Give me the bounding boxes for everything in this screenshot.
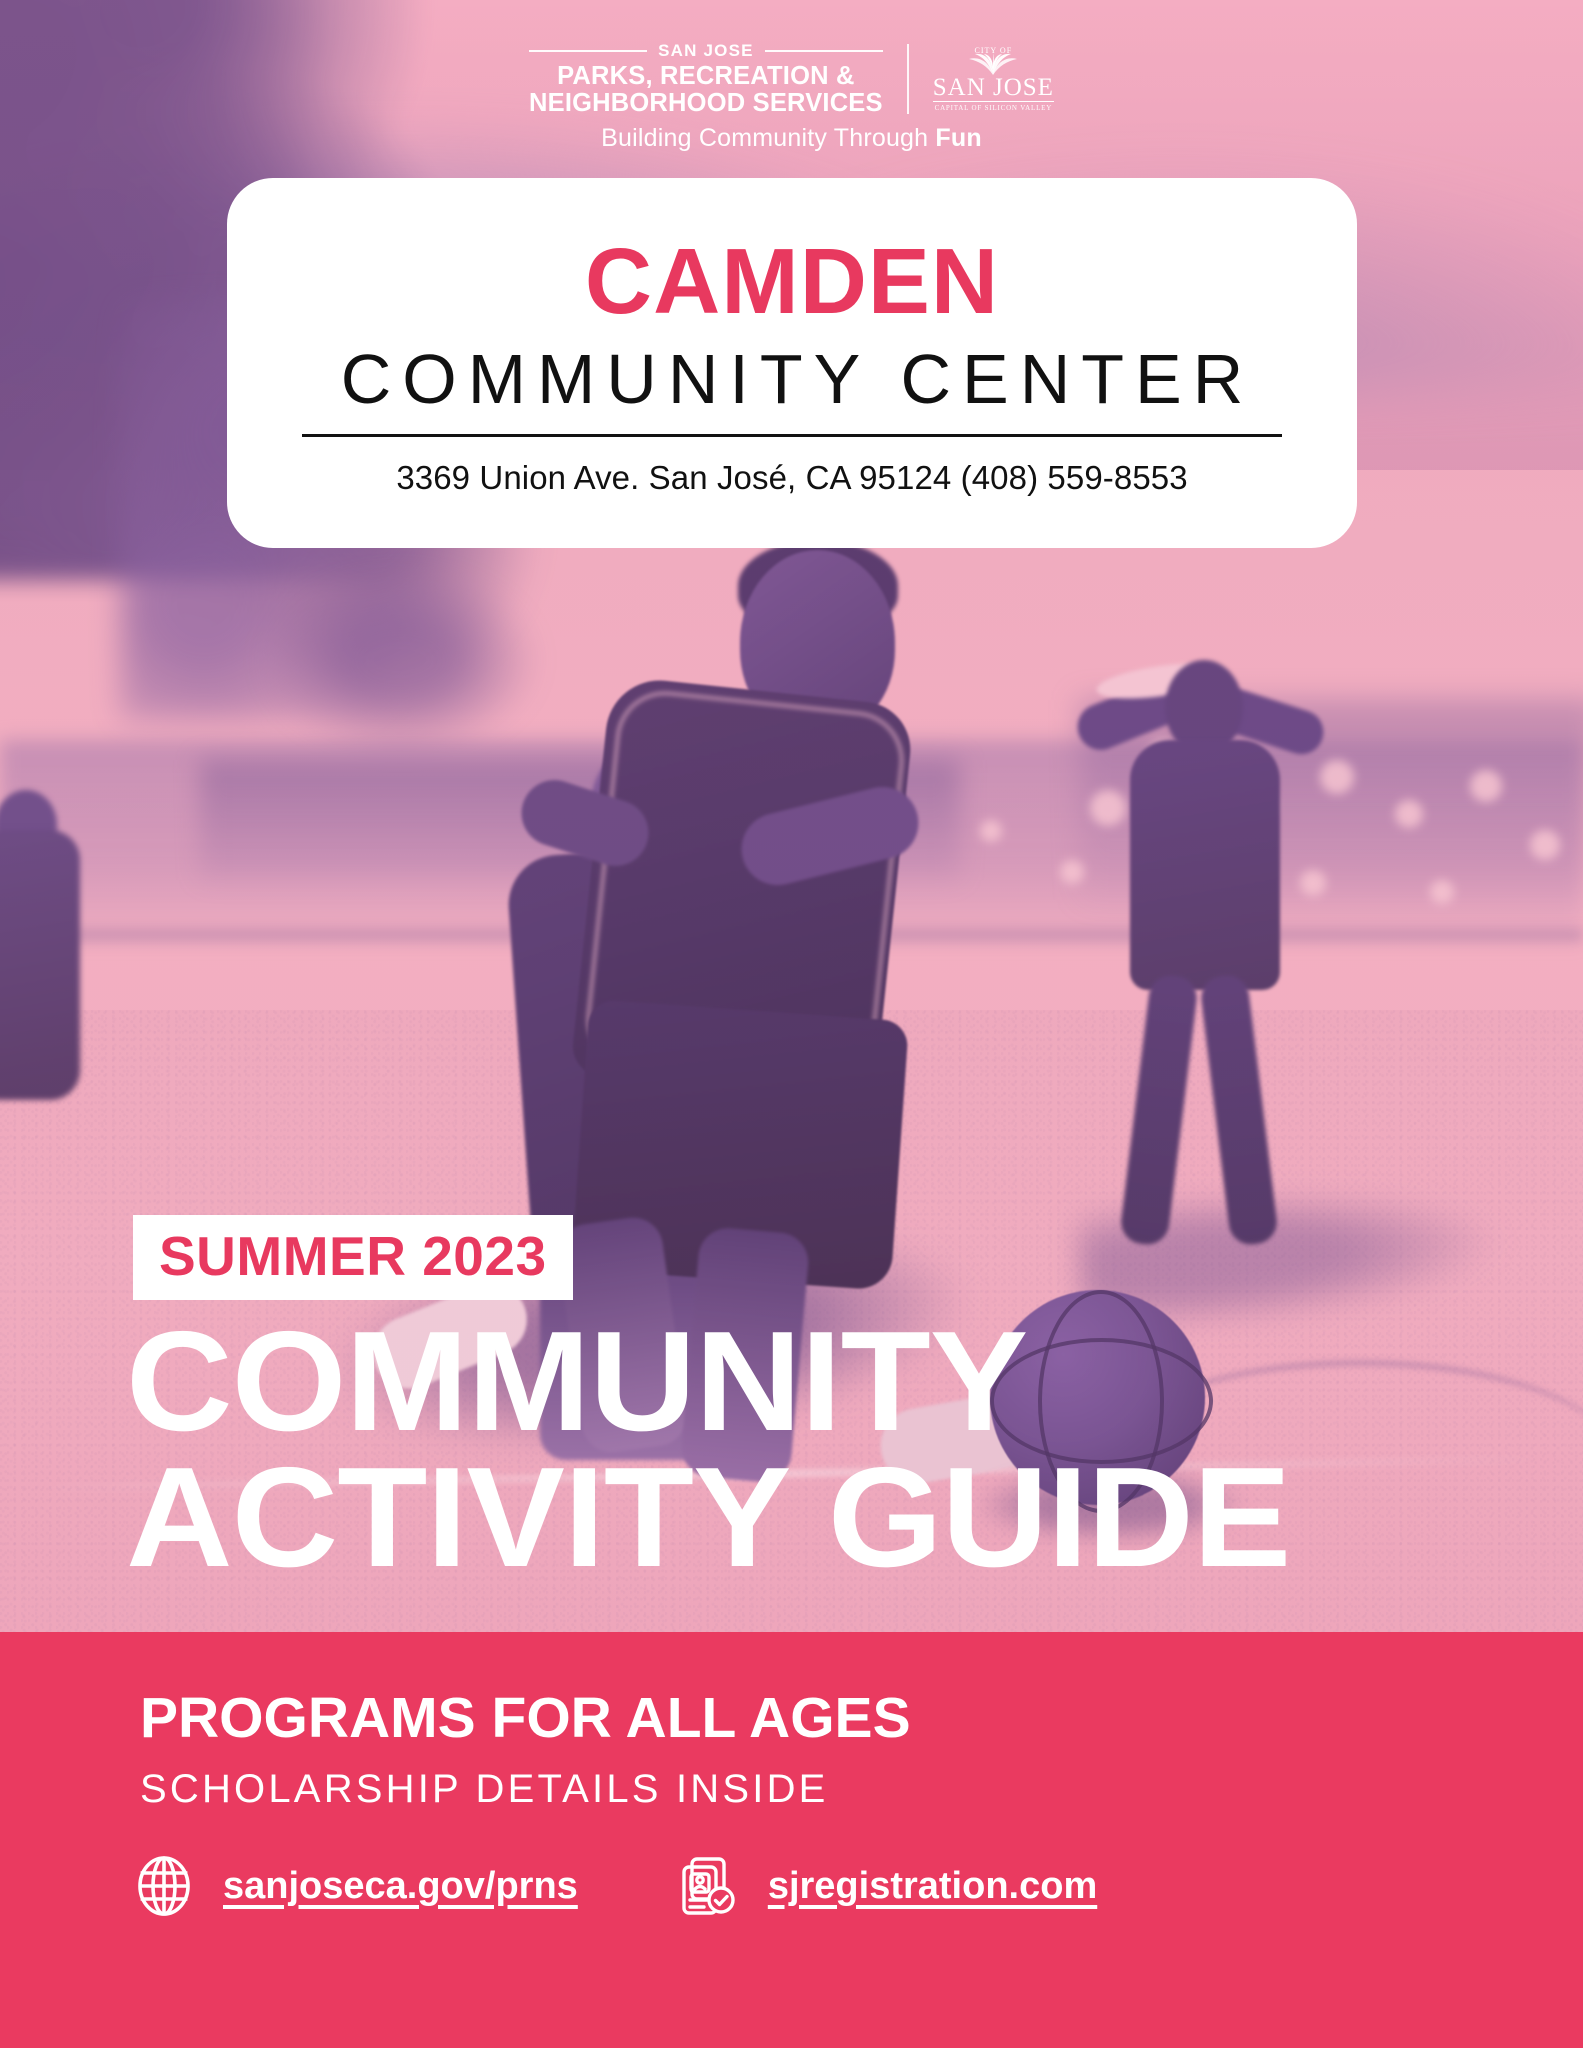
hero-line-2: ACTIVITY GUIDE [126, 1454, 1290, 1582]
registration-link[interactable]: sjregistration.com [678, 1855, 1097, 1917]
logo-line-1: PARKS, RECREATION & [557, 63, 855, 90]
tagline-bold: Fun [935, 124, 981, 152]
footer-links: sanjoseca.gov/prns sjregistration.com [133, 1855, 1097, 1917]
band-subhead: SCHOLARSHIP DETAILS INSIDE [140, 1769, 911, 1809]
logo-rule-left [529, 50, 647, 52]
card-divider [302, 434, 1282, 437]
seal-capital: CAPITAL OF SILICON VALLEY [935, 105, 1053, 112]
center-info-card: CAMDEN COMMUNITY CENTER 3369 Union Ave. … [227, 178, 1357, 548]
hero-line-1: COMMUNITY [126, 1318, 1290, 1446]
prns-wordmark: SAN JOSE PARKS, RECREATION & NEIGHBORHOO… [529, 42, 883, 116]
logo-eyebrow: SAN JOSE [658, 42, 754, 59]
center-name: CAMDEN [585, 235, 999, 328]
hero-title: COMMUNITY ACTIVITY GUIDE [126, 1318, 1246, 1582]
registration-card-icon [678, 1855, 740, 1917]
website-link[interactable]: sanjoseca.gov/prns [133, 1855, 578, 1917]
logo-tagline: Building Community Through Fun [529, 124, 1054, 153]
registration-link-label: sjregistration.com [768, 1865, 1097, 1908]
prns-logo: SAN JOSE PARKS, RECREATION & NEIGHBORHOO… [0, 42, 1583, 153]
band-headline: PROGRAMS FOR ALL AGES [140, 1690, 911, 1747]
band-text: PROGRAMS FOR ALL AGES SCHOLARSHIP DETAIL… [140, 1690, 911, 1809]
center-address: 3369 Union Ave. San José, CA 95124 (408)… [396, 459, 1187, 497]
activity-guide-cover: SAN JOSE PARKS, RECREATION & NEIGHBORHOO… [0, 0, 1583, 2048]
season-badge-label: SUMMER 2023 [159, 1229, 547, 1284]
website-link-label: sanjoseca.gov/prns [223, 1865, 578, 1908]
logo-line-2: NEIGHBORHOOD SERVICES [529, 90, 883, 117]
logo-divider [907, 44, 909, 114]
globe-icon [133, 1855, 195, 1917]
season-badge: SUMMER 2023 [133, 1215, 573, 1300]
tagline-prefix: Building Community Through [601, 124, 935, 152]
seal-name: SAN JOSE [933, 75, 1054, 102]
city-seal: CITY OF SAN JOSE CAPITAL OF [933, 47, 1054, 112]
sunburst-icon [945, 53, 1041, 75]
logo-rule-right [765, 50, 883, 52]
center-type: COMMUNITY CENTER [330, 344, 1255, 414]
